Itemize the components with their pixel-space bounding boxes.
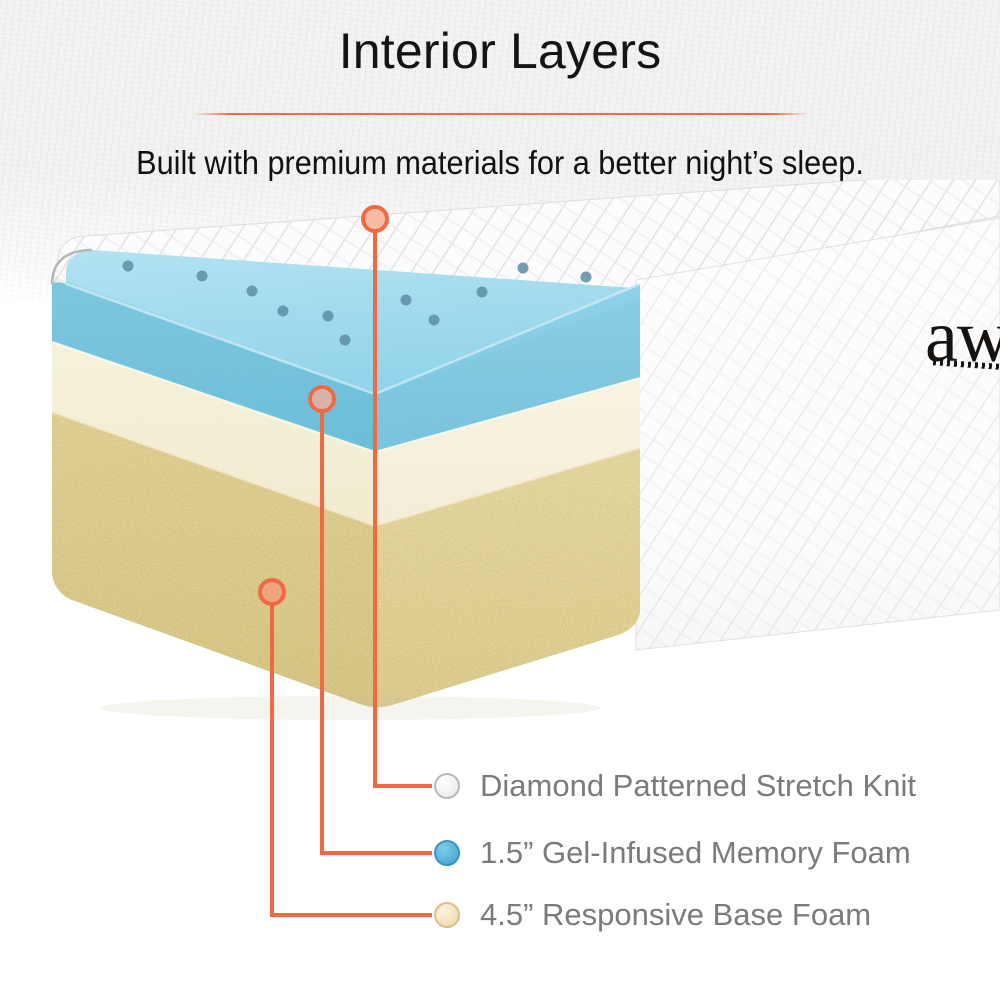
legend-label-base-foam: 4.5” Responsive Base Foam [480,898,871,932]
legend-dot-gel-memory-foam [434,840,460,866]
legend: Diamond Patterned Stretch Knit 1.5” Gel-… [0,0,1000,1000]
legend-item-base-foam[interactable]: 4.5” Responsive Base Foam [434,895,871,935]
legend-label-diamond-knit: Diamond Patterned Stretch Knit [480,769,916,803]
legend-dot-base-foam [434,902,460,928]
legend-item-diamond-knit[interactable]: Diamond Patterned Stretch Knit [434,766,916,806]
infographic-canvas: Interior Layers Built with premium mater… [0,0,1000,1000]
legend-dot-diamond-knit [434,773,460,799]
legend-item-gel-memory-foam[interactable]: 1.5” Gel-Infused Memory Foam [434,833,911,873]
legend-label-gel-memory-foam: 1.5” Gel-Infused Memory Foam [480,836,911,870]
